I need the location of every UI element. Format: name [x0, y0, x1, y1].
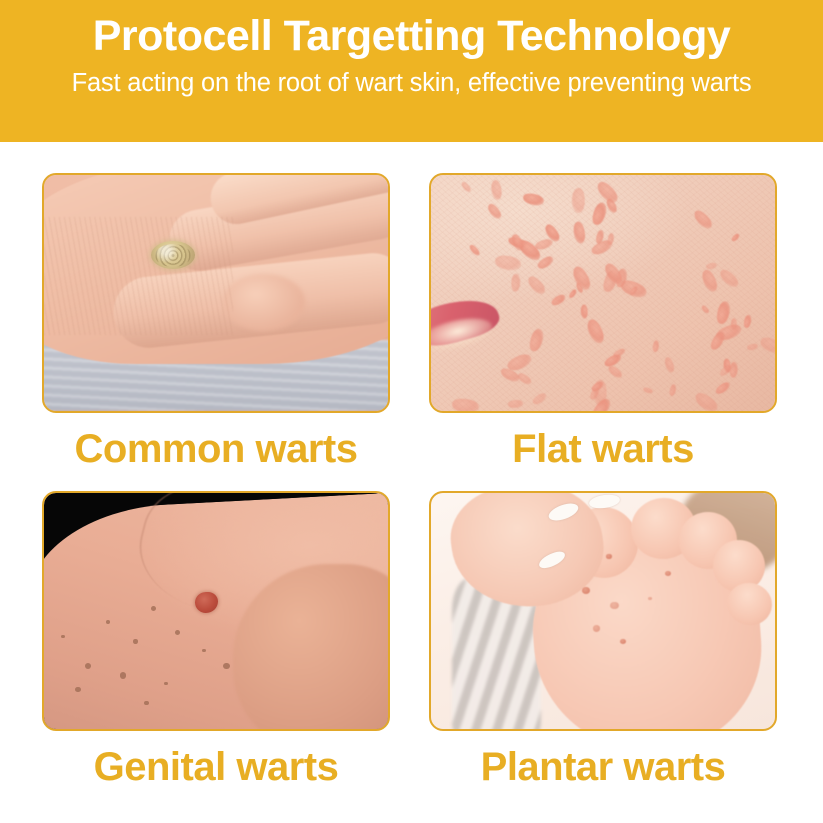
wart-type-grid: Common warts Flat warts G [0, 142, 823, 823]
card-caption-plantar-warts: Plantar warts [429, 745, 777, 789]
card-plantar-warts[interactable]: Plantar warts [429, 491, 781, 811]
photo-frame-genital-warts [42, 491, 390, 731]
photo-plantar-warts [431, 493, 775, 729]
photo-common-warts [44, 175, 388, 411]
photo-frame-flat-warts [429, 173, 777, 413]
photo-frame-plantar-warts [429, 491, 777, 731]
photo-flat-warts [431, 175, 775, 411]
card-caption-common-warts: Common warts [42, 427, 390, 471]
card-common-warts[interactable]: Common warts [42, 173, 394, 493]
card-caption-flat-warts: Flat warts [429, 427, 777, 471]
card-caption-genital-warts: Genital warts [42, 745, 390, 789]
page-subtitle: Fast acting on the root of wart skin, ef… [72, 69, 752, 98]
page-title: Protocell Targetting Technology [93, 12, 731, 61]
card-flat-warts[interactable]: Flat warts [429, 173, 781, 493]
header-banner: Protocell Targetting Technology Fast act… [0, 0, 823, 142]
photo-genital-warts [44, 493, 388, 729]
card-genital-warts[interactable]: Genital warts [42, 491, 394, 811]
photo-frame-common-warts [42, 173, 390, 413]
